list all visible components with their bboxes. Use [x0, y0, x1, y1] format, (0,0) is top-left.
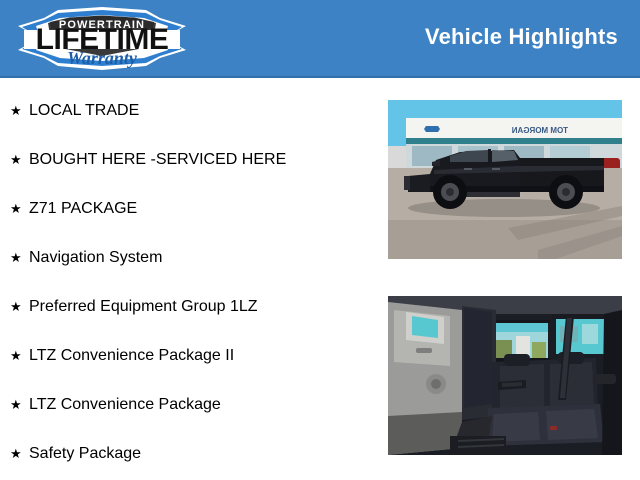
vehicle-highlights-list: ★ LOCAL TRADE ★ BOUGHT HERE -SERVICED HE…: [0, 86, 380, 478]
svg-text:Warranty: Warranty: [67, 48, 138, 68]
svg-text:TOM MORGAN: TOM MORGAN: [511, 126, 568, 135]
list-item-label: LTZ Convenience Package II: [29, 347, 234, 365]
list-item-label: Navigation System: [29, 249, 162, 267]
list-item-label: LOCAL TRADE: [29, 102, 139, 120]
list-item-label: Z71 PACKAGE: [29, 200, 137, 218]
page-header: POWERTRAIN LIFETIME Warranty Vehicle Hig…: [0, 0, 640, 78]
star-bullet-icon: ★: [10, 349, 29, 362]
star-bullet-icon: ★: [10, 153, 29, 166]
list-item: ★ Preferred Equipment Group 1LZ: [0, 282, 380, 331]
list-item-label: BOUGHT HERE -SERVICED HERE: [29, 151, 286, 169]
page-title: Vehicle Highlights: [425, 24, 618, 50]
list-item-label: Safety Package: [29, 445, 141, 463]
list-item: ★ LTZ Convenience Package: [0, 380, 380, 429]
star-bullet-icon: ★: [10, 104, 29, 117]
list-item-label: Preferred Equipment Group 1LZ: [29, 298, 258, 316]
star-bullet-icon: ★: [10, 398, 29, 411]
list-item: ★ LTZ Convenience Package II: [0, 331, 380, 380]
list-item: ★ Safety Package: [0, 429, 380, 478]
star-bullet-icon: ★: [10, 300, 29, 313]
vehicle-exterior-photo[interactable]: TOM MORGAN: [388, 100, 622, 259]
list-item: ★ LOCAL TRADE: [0, 86, 380, 135]
list-item: ★ Navigation System: [0, 233, 380, 282]
star-bullet-icon: ★: [10, 202, 29, 215]
list-item: ★ BOUGHT HERE -SERVICED HERE: [0, 135, 380, 184]
vehicle-interior-rear-seats-photo[interactable]: [388, 296, 622, 455]
star-bullet-icon: ★: [10, 447, 29, 460]
star-bullet-icon: ★: [10, 251, 29, 264]
list-item-label: LTZ Convenience Package: [29, 396, 221, 414]
list-item: ★ Z71 PACKAGE: [0, 184, 380, 233]
powertrain-lifetime-warranty-logo: POWERTRAIN LIFETIME Warranty: [14, 4, 190, 74]
